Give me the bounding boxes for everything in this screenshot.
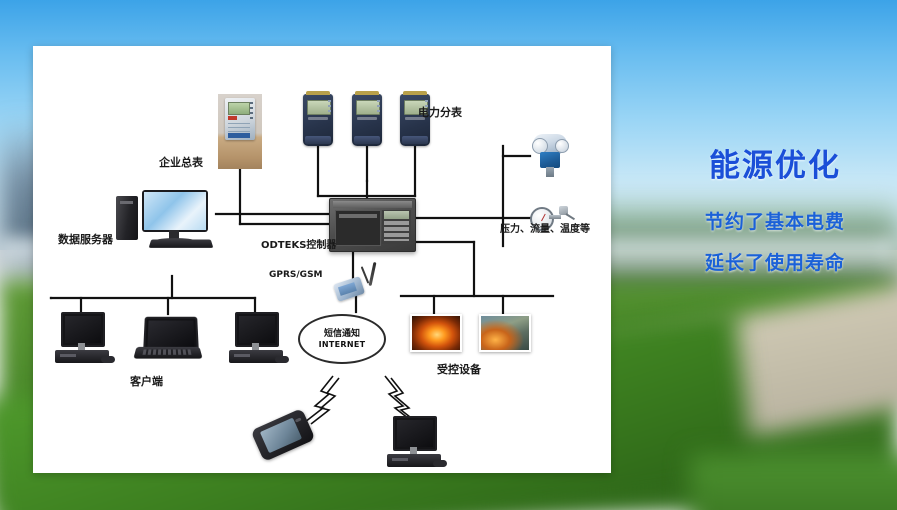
label-enterprise-meter: 企业总表 — [159, 154, 203, 170]
power-submeter-2[interactable] — [352, 94, 382, 146]
label-controller: ODTEKS控制器 — [261, 236, 336, 251]
modem-icon — [333, 264, 379, 302]
client-computer-icon — [53, 312, 111, 367]
internet-cloud[interactable]: 短信通知 INTERNET — [298, 314, 386, 364]
label-data-server: 数据服务器 — [58, 231, 113, 247]
furnace-photo[interactable] — [410, 314, 462, 352]
label-power-submeter: 电力分表 — [418, 104, 462, 120]
data-server-pc[interactable] — [116, 186, 216, 248]
server-computer-icon — [116, 186, 216, 248]
label-controlled-equipment: 受控设备 — [437, 361, 481, 377]
mobile-phone[interactable] — [255, 418, 311, 452]
submeter-icon — [352, 94, 382, 146]
laptop-icon — [135, 316, 201, 362]
enterprise-main-meter[interactable] — [218, 94, 262, 169]
label-gprs-gsm: GPRS/GSM — [269, 270, 323, 280]
plant-image — [479, 314, 531, 352]
client-desktop-left[interactable] — [53, 312, 111, 367]
plant-photo[interactable] — [479, 314, 531, 352]
controller-icon — [329, 198, 416, 252]
submeter-icon — [303, 94, 333, 146]
power-submeter-3[interactable] — [400, 94, 430, 146]
slogan-panel: 能源优化 节约了基本电费 延长了使用寿命 — [655, 140, 895, 275]
label-client: 客户端 — [130, 373, 163, 389]
gprs-gsm-modem[interactable] — [333, 264, 379, 302]
enterprise-meter-icon — [218, 94, 262, 169]
submeter-icon — [400, 94, 430, 146]
panel-title: 能源优化 — [655, 140, 895, 185]
background-grass-right — [690, 455, 897, 510]
furnace-image — [410, 314, 462, 352]
client-desktop-right[interactable] — [227, 312, 285, 367]
cloud-label-sms: 短信通知 — [324, 329, 360, 339]
system-topology-diagram: 企业总表 电力分表 ODTEKS控制器 — [33, 46, 611, 473]
client-computer-icon — [227, 312, 285, 367]
cloud-shape: 短信通知 INTERNET — [298, 314, 386, 364]
power-submeter-1[interactable] — [303, 94, 333, 146]
cloud-label-internet: INTERNET — [319, 340, 366, 349]
diagram-card: 企业总表 电力分表 ODTEKS控制器 — [33, 46, 611, 473]
pressure-transmitter[interactable] — [530, 132, 570, 178]
label-sensors: 压力、流量、温度等 — [500, 220, 590, 235]
panel-line-1: 节约了基本电费 — [655, 207, 895, 234]
remote-desktop-pc[interactable] — [385, 416, 443, 471]
odteks-controller[interactable] — [329, 198, 416, 252]
pressure-transmitter-icon — [530, 132, 570, 178]
remote-computer-icon — [385, 416, 443, 471]
panel-line-2: 延长了使用寿命 — [655, 248, 895, 275]
client-laptop[interactable] — [135, 316, 201, 362]
smartphone-icon — [251, 408, 316, 462]
